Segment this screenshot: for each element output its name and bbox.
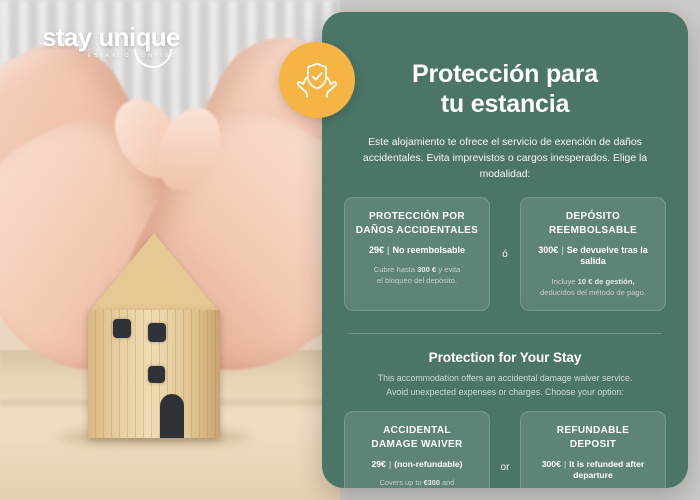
option-note-strong: 300 € [417,265,436,274]
wooden-house [88,233,220,438]
option-price: 300€ [542,459,561,469]
logo-wordmark: stay unique [42,24,180,50]
protection-panel: Protección para tu estancia Este alojami… [322,12,688,488]
shield-check-in-hands-icon [294,57,340,103]
option-title: PROTECCIÓN POR DAÑOS ACCIDENTALES [353,210,481,236]
panel-description-en: This accommodation offers an accidental … [344,372,666,399]
option-price-divider: | [389,459,391,469]
option-note-after: deducidos del método de pago. [540,288,646,297]
option-card-refundable-deposit-en[interactable]: REFUNDABLE DEPOSIT 300€|It is refunded a… [520,411,666,488]
option-note: Incluye 10 € de gestión, deducidos del m… [529,276,657,298]
house-door [160,394,184,438]
option-price: 300€ [538,245,558,255]
option-title: ACCIDENTAL DAMAGE WAIVER [353,424,481,450]
option-separator-es: ó [490,197,520,311]
options-row-en: ACCIDENTAL DAMAGE WAIVER 29€|(non-refund… [344,411,666,488]
panel-subtitle-en: Protection for Your Stay [344,350,666,365]
logo-word-stay: stay [42,22,92,52]
option-note-strong: 10 € de gestión, [578,277,635,286]
option-price-terms: Se devuelve tras la salida [567,245,648,267]
brand-logo: stay unique ESTANDO CONTIGO [42,24,180,59]
option-price-terms: It is refunded after departure [569,459,644,480]
promo-screenshot: stay unique ESTANDO CONTIGO Protección p… [0,0,700,500]
logo-word-unique: unique [98,22,180,52]
option-separator-en: or [490,411,520,488]
options-row-es: PROTECCIÓN POR DAÑOS ACCIDENTALES 29€|No… [344,197,666,311]
option-note-before: Covers up to [380,478,424,487]
option-price-line: 300€|It is refunded after departure [529,459,657,481]
option-title: DEPÓSITO REEMBOLSABLE [529,210,657,236]
option-note-before: Incluye [551,277,577,286]
house-window-top-right [148,323,166,342]
house-roof [88,233,220,313]
option-note: Cubre hasta 300 € y evita el bloqueo del… [353,264,481,286]
option-price-terms: (non-refundable) [394,459,462,469]
house-window-middle [148,366,165,383]
option-price-line: 29€|(non-refundable) [353,459,481,470]
option-card-refundable-deposit-es[interactable]: DEPÓSITO REEMBOLSABLE 300€|Se devuelve t… [520,197,666,311]
option-card-accidental-damage-es[interactable]: PROTECCIÓN POR DAÑOS ACCIDENTALES 29€|No… [344,197,490,311]
option-price-line: 300€|Se devuelve tras la salida [529,245,657,268]
option-price: 29€ [371,459,385,469]
option-note: Covers up to €300 and avoids a deposit h… [353,478,481,488]
option-card-accidental-damage-en[interactable]: ACCIDENTAL DAMAGE WAIVER 29€|(non-refund… [344,411,490,488]
option-title: REFUNDABLE DEPOSIT [529,424,657,450]
house-window-top-left [113,319,131,338]
section-divider [348,333,662,334]
option-price-divider: | [564,459,566,469]
option-note-strong: €300 [424,478,440,487]
option-price-line: 29€|No reembolsable [353,245,481,257]
option-price-divider: | [387,245,390,255]
option-price: 29€ [369,245,384,255]
panel-title: Protección para tu estancia [344,60,666,119]
option-price-terms: No reembolsable [393,245,466,255]
protection-badge [279,42,355,118]
option-note-before: Cubre hasta [374,265,417,274]
panel-description: Este alojamiento te ofrece el servicio d… [344,135,666,183]
option-price-divider: | [561,245,564,255]
